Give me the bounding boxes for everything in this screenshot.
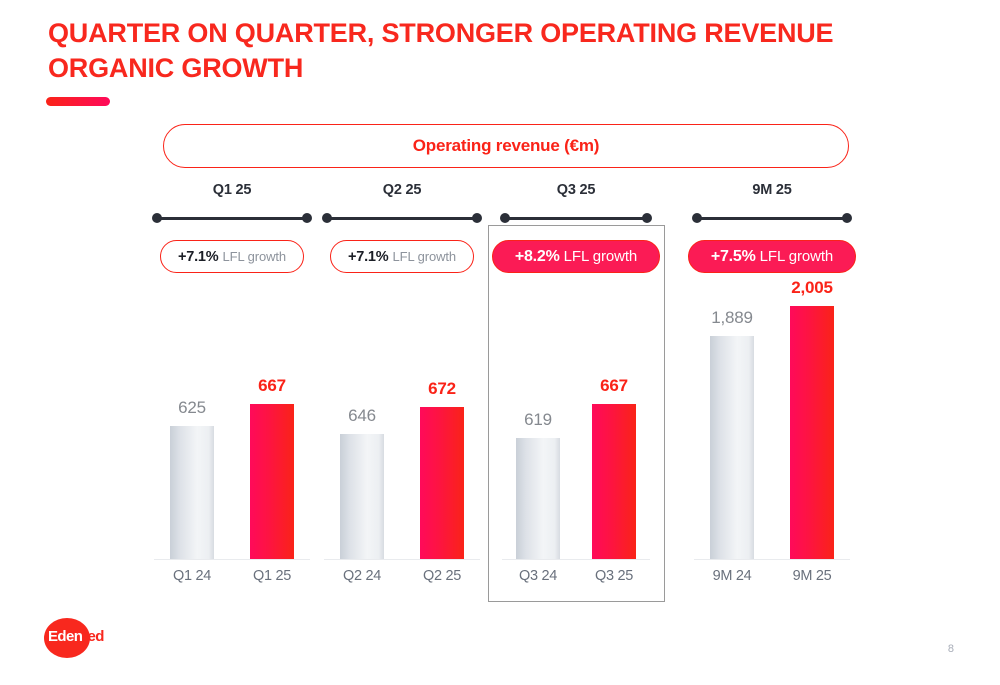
chart-group-9m-25: 9M 25+7.5%LFL growth1,8892,0059M 249M 25 <box>692 182 852 607</box>
page-title: QUARTER ON QUARTER, STRONGER OPERATING R… <box>48 16 928 86</box>
bar-value-label: 646 <box>348 406 376 426</box>
group-header-label: Q1 25 <box>152 182 312 198</box>
lfl-growth-label: LFL growth <box>760 248 833 265</box>
bar-value-label: 625 <box>178 398 206 418</box>
group-plot-area: 625667 <box>152 292 312 560</box>
logo-wordmark: Edenred <box>48 629 104 644</box>
bar-slot: 619 <box>500 291 576 559</box>
logo-word-part-one: Eden <box>48 628 82 645</box>
lfl-growth-pill: +7.1%LFL growth <box>330 240 474 273</box>
rule-dot-right-icon <box>302 213 312 223</box>
bar-q3-24 <box>516 438 560 559</box>
axis-tick-label: Q1 24 <box>152 568 232 584</box>
chart-group-q3-25: Q3 25+8.2%LFL growth619667Q3 24Q3 25 <box>500 182 652 607</box>
bar-value-label: 619 <box>524 410 552 430</box>
lfl-growth-percent: +7.5% <box>711 248 756 266</box>
group-header-label: Q2 25 <box>322 182 482 198</box>
lfl-growth-label: LFL growth <box>564 248 637 265</box>
chart-group-q1-25: Q1 25+7.1%LFL growth625667Q1 24Q1 25 <box>152 182 312 607</box>
axis-tick-label: 9M 24 <box>692 568 772 584</box>
bar-value-label: 672 <box>428 379 456 399</box>
axis-tick-label: Q2 25 <box>402 568 482 584</box>
group-span-rule <box>500 213 652 223</box>
lfl-growth-label: LFL growth <box>392 249 456 264</box>
bar-q2-24 <box>340 434 384 559</box>
bar-slot: 667 <box>232 291 312 559</box>
axis-baseline <box>694 559 850 561</box>
bar-slot: 672 <box>402 291 482 559</box>
bar-value-label: 667 <box>258 376 286 396</box>
rule-line <box>505 217 647 220</box>
lfl-growth-percent: +8.2% <box>515 248 560 266</box>
lfl-growth-pill: +7.5%LFL growth <box>688 240 856 273</box>
bar-q2-25 <box>420 407 464 559</box>
axis-tick-label: 9M 25 <box>772 568 852 584</box>
rule-dot-right-icon <box>842 213 852 223</box>
axis-baseline <box>502 559 650 561</box>
logo-word-part-two: red <box>82 628 104 645</box>
lfl-growth-pill: +8.2%LFL growth <box>492 240 660 273</box>
lfl-growth-percent: +7.1% <box>178 249 219 265</box>
axis-tick-label: Q3 25 <box>576 568 652 584</box>
rule-line <box>697 217 847 220</box>
group-header-label: 9M 25 <box>692 182 852 198</box>
bar-slot: 667 <box>576 291 652 559</box>
bar-slot: 1,889 <box>692 291 772 559</box>
axis-tick-label: Q2 24 <box>322 568 402 584</box>
page-number: 8 <box>948 643 954 655</box>
chart-groups-container: Q1 25+7.1%LFL growth625667Q1 24Q1 25Q2 2… <box>0 182 1000 607</box>
bar-value-label: 2,005 <box>791 278 833 298</box>
bar-q3-25 <box>592 404 636 559</box>
lfl-growth-label: LFL growth <box>222 249 286 264</box>
chart-group-q2-25: Q2 25+7.1%LFL growth646672Q2 24Q2 25 <box>322 182 482 607</box>
axis-baseline <box>324 559 480 561</box>
bar-q1-24 <box>170 426 214 559</box>
bar-value-label: 1,889 <box>711 308 753 328</box>
lfl-growth-pill: +7.1%LFL growth <box>160 240 304 273</box>
group-span-rule <box>152 213 312 223</box>
chart-header-label: Operating revenue (€m) <box>413 136 599 156</box>
bar-q1-25 <box>250 404 294 559</box>
chart-header-pill: Operating revenue (€m) <box>163 124 849 168</box>
bar-slot: 646 <box>322 291 402 559</box>
bar-slot: 2,005 <box>772 291 852 559</box>
axis-tick-label: Q1 25 <box>232 568 312 584</box>
bar-slot: 625 <box>152 291 232 559</box>
group-header-label: Q3 25 <box>500 182 652 198</box>
group-span-rule <box>692 213 852 223</box>
axis-baseline <box>154 559 310 561</box>
bar-value-label: 667 <box>600 376 628 396</box>
rule-dot-right-icon <box>642 213 652 223</box>
rule-line <box>327 217 477 220</box>
rule-dot-right-icon <box>472 213 482 223</box>
title-accent-bar <box>46 97 110 106</box>
rule-line <box>157 217 307 220</box>
lfl-growth-percent: +7.1% <box>348 249 389 265</box>
group-span-rule <box>322 213 482 223</box>
bar-9m-25 <box>790 306 834 559</box>
group-plot-area: 619667 <box>500 292 652 560</box>
group-plot-area: 646672 <box>322 292 482 560</box>
edenred-logo: Edenred <box>44 618 140 658</box>
group-plot-area: 1,8892,005 <box>692 292 852 560</box>
axis-tick-label: Q3 24 <box>500 568 576 584</box>
bar-9m-24 <box>710 336 754 559</box>
